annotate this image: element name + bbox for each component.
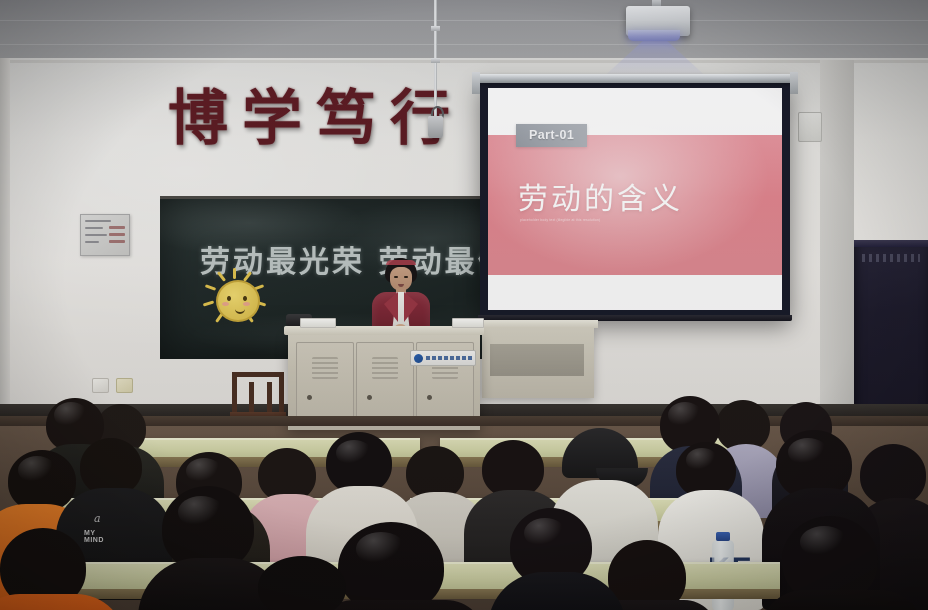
wall-switch [116,378,133,393]
school-crest-plaque [410,350,476,366]
teacher-presenter [368,258,434,336]
slide-part-tag: Part-01 [516,124,587,147]
jacket-script-mark: a [94,512,101,525]
dark-wall-cabinet [854,240,928,420]
screen-roller-bar [476,74,794,83]
paper-stack [452,318,484,328]
ceiling [0,0,928,62]
sun-face [216,280,260,322]
ceiling-seam [0,44,928,45]
pole-collar [431,26,440,31]
wall-mounted-box [798,112,822,142]
projection-screen: Part-01 劳动的含义 placeholder body text (ill… [488,88,782,310]
wall-socket [92,378,109,393]
paper-stack [300,318,336,328]
plaque-text [426,356,472,360]
wall-trim [0,60,928,63]
jacket-subtext: MY MIND [84,530,104,544]
side-desk-top [478,320,598,328]
projector-lens [628,30,680,41]
screen-bracket-left [472,72,480,94]
slide-title: 劳动的含义 [518,174,683,218]
slide: Part-01 劳动的含义 placeholder body text (ill… [488,88,782,310]
side-desk-shelf [490,344,584,376]
school-logo-icon [414,354,423,363]
teacher-headband [386,260,416,265]
pole-collar [431,58,440,63]
classroom-photo: 博学笃行 志 劳动最光荣 劳动最伟大 [0,0,928,610]
ceiling-seam [0,20,928,21]
chalk-sun-drawing [205,270,267,328]
screen-bracket-right [790,72,798,94]
cabinet-label [862,254,920,262]
slide-subtitle: placeholder body text (illegible at this… [520,218,690,224]
right-wall-strip [820,60,854,420]
left-wall-edge [0,58,10,420]
wall-notice-poster [80,214,130,256]
pendant-lamp [428,116,443,138]
bottle-cap [716,532,730,541]
